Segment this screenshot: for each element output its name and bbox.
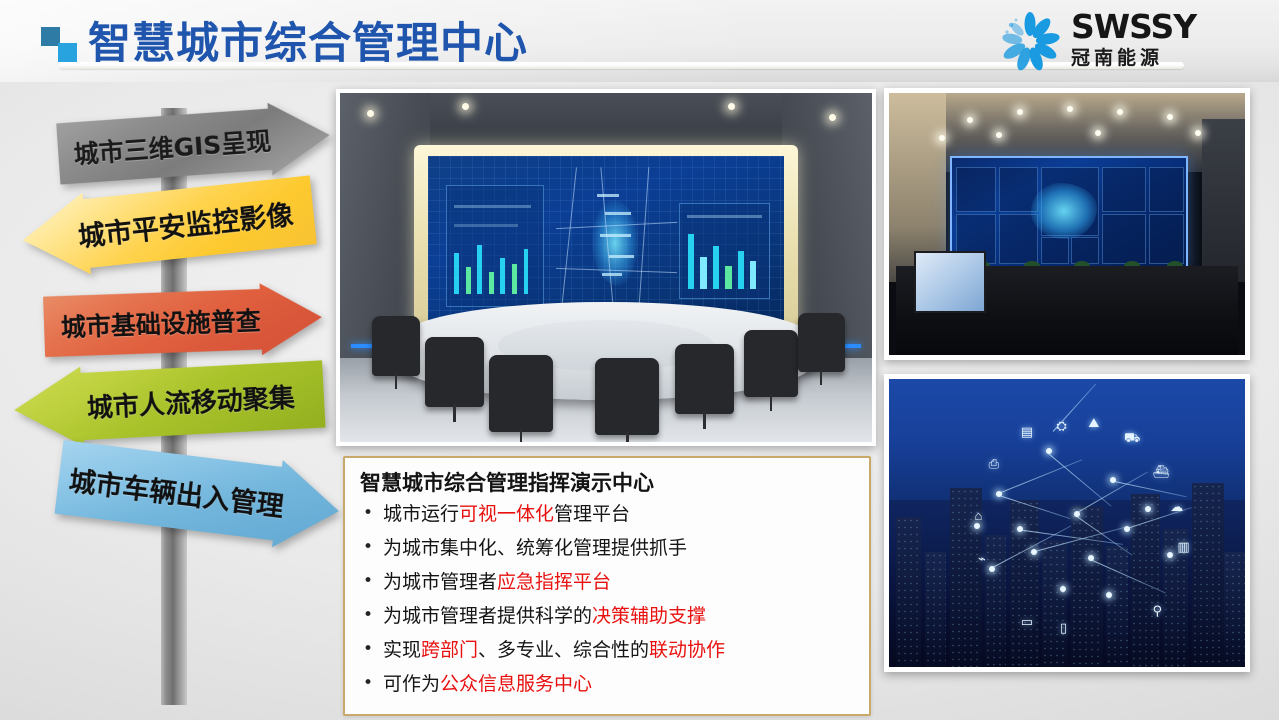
sign-plate-left-arrow: 城市人流移动聚集 (12, 354, 326, 450)
plain-text: 可作为 (383, 673, 440, 695)
description-bullet-item: 实现跨部门、多专业、综合性的联动协作 (357, 638, 859, 662)
plain-text: 为城市集中化、统筹化管理提供抓手 (383, 537, 687, 559)
antenna-icon: ⌁ (978, 552, 986, 565)
highlighted-text: 决策辅助支撑 (592, 605, 706, 627)
highlighted-text: 公众信息服务中心 (440, 673, 592, 695)
server-icon: ▥ (1177, 540, 1189, 553)
description-title: 智慧城市综合管理指挥演示中心 (360, 467, 654, 497)
description-bullet-item: 城市运行可视一体化管理平台 (357, 502, 859, 526)
signpost-group: 城市三维GIS呈现 城市平安监控影像 城市基础设施普查 城市人流移动聚集 城市车… (0, 88, 340, 688)
factory-icon: ⛭ (1056, 419, 1066, 432)
sign-label: 城市人流移动聚集 (13, 375, 325, 428)
brand-logo: SWSSY 冠南能源 (999, 8, 1259, 74)
brand-subtitle: 冠南能源 (1071, 46, 1196, 71)
description-bullet-item: 为城市管理者提供科学的决策辅助支撑 (357, 604, 859, 628)
plain-text: 、多专业、综合性的 (478, 639, 649, 661)
photo-smart-city-network-content: ▤ ⛭ ⛰ ⛟ ⎙ ⛴ ⌂ ⌁ ▥ ⚲ ▭ ▯ ☁ (889, 379, 1245, 667)
home-icon: ⌂ (974, 509, 982, 522)
description-card: 智慧城市综合管理指挥演示中心 城市运行可视一体化管理平台为城市集中化、统筹化管理… (343, 456, 871, 716)
description-bullet-item: 可作为公众信息服务中心 (357, 672, 859, 696)
photo-dispatch-room[interactable] (884, 88, 1250, 360)
photo-dispatch-room-content (889, 93, 1245, 355)
brand-name: SWSSY (1071, 10, 1196, 44)
highlighted-text: 应急指挥平台 (497, 571, 611, 593)
sign-flow[interactable]: 城市人流移动聚集 (12, 354, 326, 450)
building-icon: ▤ (1021, 425, 1033, 438)
cloud-icon: ☁ (1170, 500, 1183, 513)
highlighted-text: 可视一体化 (459, 503, 554, 525)
description-bullet-item: 为城市管理者应急指挥平台 (357, 570, 859, 594)
plain-text: 城市运行 (383, 503, 459, 525)
phone-icon: ▯ (1060, 621, 1067, 634)
tower-icon: ⛰ (1088, 416, 1099, 429)
sign-infra[interactable]: 城市基础设施普查 (43, 281, 323, 363)
square-icon-light (58, 43, 77, 62)
slide-canvas: 智慧城市综合管理中心 (0, 0, 1279, 720)
bulb-icon: ⚲ (1152, 604, 1162, 617)
sign-label: 城市基础设施普查 (43, 299, 322, 345)
sign-plate-right-arrow: 城市车辆出入管理 (54, 433, 345, 555)
photo-smart-city-network[interactable]: ▤ ⛭ ⛰ ⛟ ⎙ ⛴ ⌂ ⌁ ▥ ⚲ ▭ ▯ ☁ (884, 374, 1250, 672)
laptop-icon: ▭ (1021, 615, 1033, 628)
slide-header: 智慧城市综合管理中心 (0, 0, 1279, 82)
water-droplet-flower-logo-icon (999, 12, 1061, 72)
sign-label: 城市平安监控影像 (21, 190, 315, 259)
highlighted-text: 跨部门 (421, 639, 478, 661)
highlighted-text: 联动协作 (649, 639, 725, 661)
sign-label: 城市车辆出入管理 (57, 457, 342, 530)
car-icon: ⛟ (1124, 431, 1140, 444)
photo-command-center-content (340, 93, 872, 442)
plain-text: 为城市管理者 (383, 571, 497, 593)
plain-text: 为城市管理者提供科学的 (383, 605, 592, 627)
photo-command-center[interactable] (336, 89, 876, 446)
plain-text: 实现 (383, 639, 421, 661)
sign-label: 城市三维GIS呈现 (57, 117, 331, 172)
sign-vehicle[interactable]: 城市车辆出入管理 (54, 433, 345, 555)
satellite-icon: ⎙ (989, 457, 999, 470)
description-bullet-list: 城市运行可视一体化管理平台为城市集中化、统筹化管理提供抓手为城市管理者应急指挥平… (357, 502, 859, 706)
plain-text: 管理平台 (554, 503, 630, 525)
description-bullet-item: 为城市集中化、统筹化管理提供抓手 (357, 536, 859, 560)
sign-plate-right-arrow: 城市基础设施普查 (43, 281, 323, 363)
train-icon: ⛴ (1152, 465, 1169, 478)
